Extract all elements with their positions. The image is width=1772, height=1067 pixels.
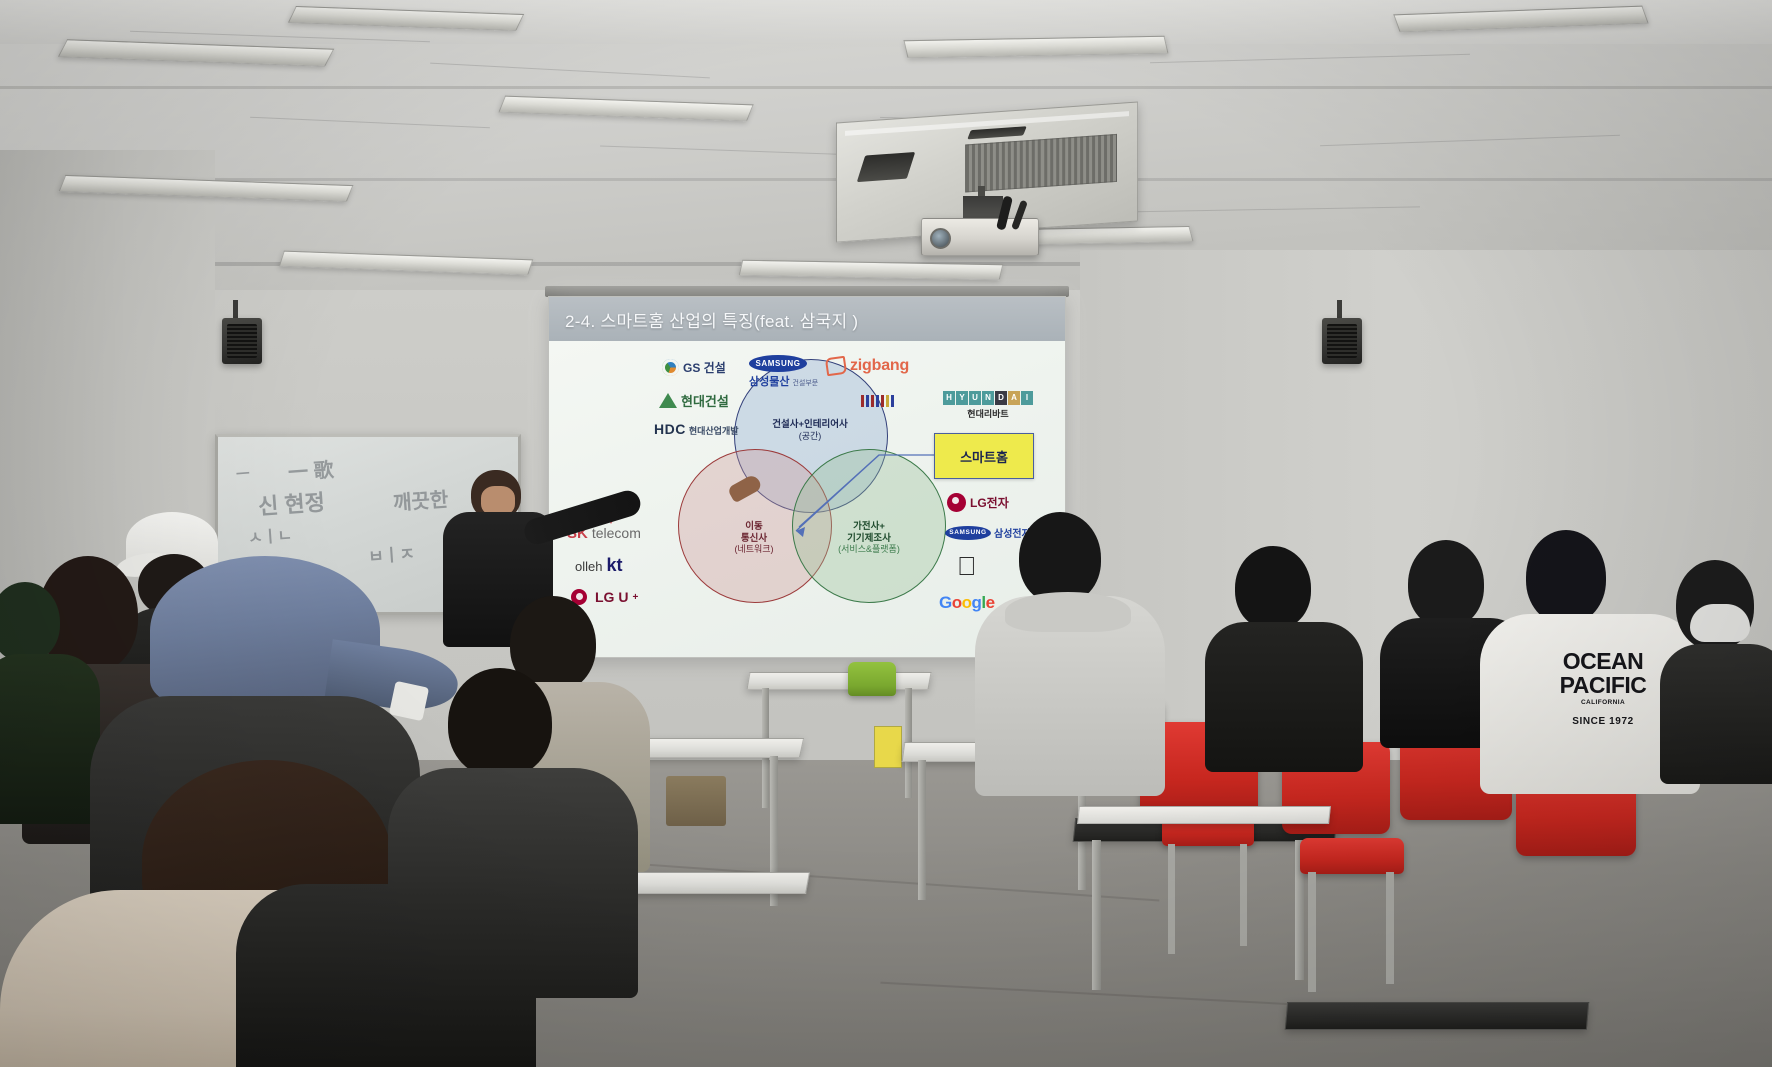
- ac-louver: [967, 126, 1027, 139]
- lg-circle-icon: [947, 493, 966, 512]
- cap-tag: [389, 681, 429, 721]
- logo-apple: : [957, 553, 977, 580]
- speaker-bracket-right: [1337, 300, 1342, 320]
- shirt-text-line3: SINCE 1972: [1528, 717, 1678, 727]
- student-torso: [1660, 644, 1772, 784]
- desk-dark: [1285, 1002, 1589, 1030]
- presenter-arm: [521, 487, 643, 547]
- venn-label-construction: 건설사+인테리어사 (공간): [745, 419, 875, 442]
- hillstate-bar: [871, 395, 874, 407]
- shirt-graphic: OCEAN PACIFIC CALIFORNIA SINCE 1972: [1528, 650, 1678, 727]
- venn-sublabel-text: (서비스&플랫폼): [805, 544, 933, 555]
- logo-samsung-electronics: SAMSUNG 삼성전자: [945, 525, 1031, 540]
- projector-lens: [930, 228, 951, 249]
- student-torso: [236, 884, 536, 1067]
- hyundai-livart-text: 현대리바트: [943, 407, 1033, 420]
- student-torso: [0, 654, 100, 824]
- hillstate-bar: [876, 395, 879, 407]
- lg-electronics-text: LG전자: [970, 494, 1009, 511]
- shirt-text-line2: PACIFIC: [1528, 674, 1678, 697]
- zigbang-text: zigbang: [850, 357, 909, 375]
- sticky-note: [874, 726, 902, 768]
- student-head: [448, 668, 552, 778]
- wall-speaker-right: [1322, 318, 1362, 364]
- logo-gs-engineering: GS 건설: [662, 359, 726, 376]
- ac-vent-grille: [965, 134, 1117, 193]
- student-head: [1019, 512, 1101, 604]
- zigbang-mark-icon: [825, 356, 847, 377]
- venn-label-appliance: 가전사+ 기기제조사 (서비스&플랫폼): [805, 521, 933, 555]
- shirt-text-line1: OCEAN: [1528, 650, 1678, 673]
- desk: [746, 672, 931, 690]
- hillstate-bar: [861, 395, 864, 407]
- venn-label-text-2: 통신사: [741, 533, 767, 544]
- hillstate-bar: [866, 395, 869, 407]
- venn-sublabel-text: (네트워크): [691, 544, 817, 555]
- hillstate-bar: [881, 395, 884, 407]
- shirt-text-sub: CALIFORNIA: [1528, 700, 1678, 707]
- hyundai-eng-text: 현대건설: [681, 391, 729, 410]
- hdc-text: HDC: [654, 421, 686, 437]
- venn-label-telecom: 이동 통신사 (네트워크): [691, 521, 817, 555]
- hillstate-bar: [891, 395, 894, 407]
- venn-label-text: 이동: [745, 521, 762, 532]
- hyundai-triangle-icon: [659, 393, 677, 408]
- student-head: [1526, 530, 1606, 624]
- hillstate-bar: [886, 395, 889, 407]
- chair-leg: [1308, 872, 1316, 992]
- hoodie-hood: [1005, 592, 1131, 632]
- slide-title: 2-4. 스마트홈 산업의 특징(feat. 삼국지 ): [565, 307, 858, 332]
- venn-label-text: 가전사+: [853, 521, 885, 532]
- slide-title-bar: 2-4. 스마트홈 산업의 특징(feat. 삼국지 ): [549, 297, 1065, 341]
- student-torso: [1205, 622, 1363, 772]
- hdc-subtext: 현대산업개발: [689, 424, 739, 437]
- apple-icon: : [957, 551, 977, 581]
- student-head: [1235, 546, 1311, 630]
- chair-leg: [1168, 844, 1175, 954]
- face-mask: [1690, 604, 1750, 642]
- logo-gs-text: GS 건설: [683, 359, 726, 376]
- gs-circle-icon: [662, 359, 679, 376]
- logo-lg-electronics: LG전자: [947, 493, 1009, 512]
- logo-google: Google: [939, 593, 995, 613]
- samsung-oval-icon: SAMSUNG: [945, 526, 991, 540]
- student-head: [1408, 540, 1484, 628]
- logo-hdc: HDC 현대산업개발: [654, 421, 739, 437]
- desk-leg: [1092, 840, 1101, 990]
- desk: [1077, 806, 1331, 824]
- cardboard-box: [666, 776, 726, 826]
- chair-red-seat: [1300, 838, 1404, 874]
- smart-home-callout-box: 스마트홈: [934, 433, 1034, 479]
- samsung-ct-division: 건설부문: [792, 378, 818, 388]
- logo-hyundai-engineering: 현대건설: [659, 391, 729, 410]
- ceiling-seam-1: [0, 86, 1772, 89]
- logo-samsung-ct: SAMSUNG 삼성물산 건설부문: [749, 355, 818, 389]
- chair-leg: [1386, 872, 1394, 984]
- speaker-grille: [227, 324, 257, 358]
- classroom-lecture-photo: ㅡ 一 歌 신 현정 깨끗한 ㅅㅣㄴ ㅂㅣㅈ ㅇㅡㅁ 2-4. 스마트홈 산업의…: [0, 0, 1772, 1067]
- logo-hillstate: [861, 395, 894, 407]
- chair-leg: [1240, 844, 1247, 946]
- speaker-grille: [1327, 324, 1357, 358]
- venn-sublabel-text: (공간): [745, 431, 875, 442]
- chair-green: [848, 662, 896, 696]
- wall-speaker-left: [222, 318, 262, 364]
- smart-home-label: 스마트홈: [960, 447, 1008, 466]
- hyundai-livart-mark-icon: HYUNDAI: [943, 391, 1033, 405]
- venn-label-text: 건설사+인테리어사: [772, 419, 847, 430]
- speaker-bracket-left: [233, 300, 238, 320]
- samsung-ct-name: 삼성물산: [749, 373, 789, 389]
- venn-label-text-2: 기기제조사: [847, 533, 891, 544]
- ac-louver: [857, 152, 915, 182]
- desk-leg: [918, 760, 926, 900]
- logo-hyundai-livart: HYUNDAI 현대리바트: [943, 391, 1033, 420]
- logo-zigbang: zigbang: [826, 357, 909, 375]
- samsung-oval-icon: SAMSUNG: [749, 355, 807, 372]
